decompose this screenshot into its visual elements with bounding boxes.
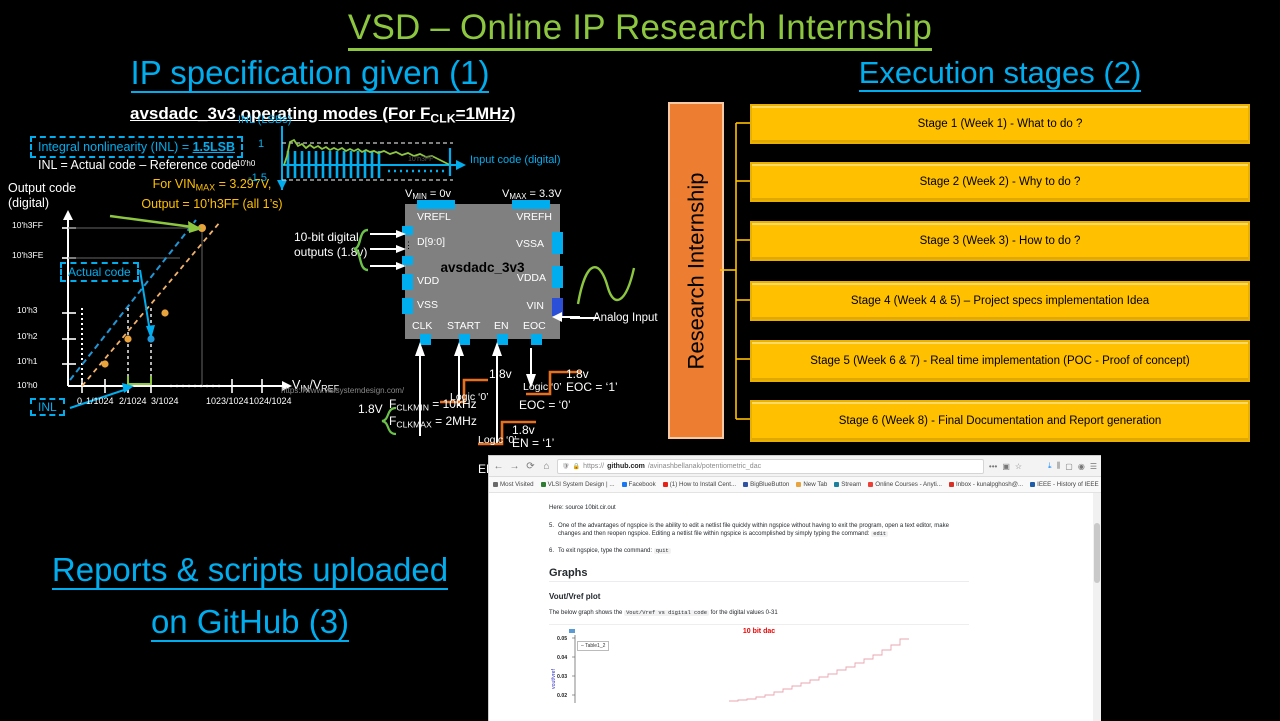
pin-vdd	[402, 274, 413, 290]
chart-svg	[549, 625, 969, 709]
heading-vout-vref-plot: Vout/Vref plot	[549, 592, 969, 601]
pin-vss	[402, 298, 413, 314]
section-heading-github: Reports & scripts uploadedon GitHub (3)	[0, 544, 500, 648]
actual-code-callout: Actual code	[60, 262, 139, 282]
inl-chart-svg	[238, 118, 468, 190]
inline-code: Vout/Vref vs digital code	[624, 610, 709, 616]
inl-chart-x-label: Input code (digital)	[470, 154, 561, 166]
bookmark-favicon-icon	[868, 482, 873, 487]
url-path: /avinashbellanak/potentiometric_dac	[648, 463, 761, 470]
xtick-3-1024: 3/1024	[151, 396, 179, 406]
spine-label: Research Internship	[683, 172, 709, 369]
eoc-18v-label: 1.8vEOC = ‘1’	[566, 368, 618, 394]
reload-icon[interactable]: ⟳	[525, 461, 536, 472]
home-icon[interactable]: ⌂	[541, 461, 552, 472]
url-host: github.com	[607, 463, 645, 470]
section-heading-execution: Execution stages (2)	[740, 52, 1260, 94]
ytick-h3: 10'h3	[17, 305, 38, 315]
heading-graphs: Graphs	[549, 567, 969, 582]
library-icon[interactable]: ▢	[1065, 462, 1073, 471]
bookmark-favicon-icon	[493, 482, 498, 487]
page-content: Here: source 10bit.cir.out 5. One of the…	[489, 493, 1101, 721]
pin-label-vin: VIN	[526, 300, 544, 312]
address-bar[interactable]: 🛡 🔒 https://github.com/avinashbellanak/p…	[557, 459, 984, 474]
bookmarks-bar: Most Visited VLSI System Design | ... Fa…	[489, 477, 1101, 493]
pin-vdda	[552, 266, 563, 288]
bookmark-favicon-icon	[622, 482, 627, 487]
bookmark-item[interactable]: Facebook	[622, 481, 656, 488]
hamburger-icon[interactable]: ☰	[1090, 462, 1097, 471]
stage-item-5[interactable]: Stage 5 (Week 6 & 7) - Real time impleme…	[750, 340, 1250, 382]
list-item-number: 5.	[549, 522, 554, 539]
bookmark-favicon-icon	[949, 482, 954, 487]
output-code-axis-label: Output code(digital)	[8, 181, 76, 211]
pin-label-vdda: VDDA	[517, 272, 546, 284]
menu-dots-icon[interactable]: •••	[989, 462, 997, 471]
page-title: VSD – Online IP Research Internship	[0, 6, 1280, 50]
pin-vssa	[552, 232, 563, 254]
lock-icon: 🔒	[573, 463, 580, 470]
pin-label-en: EN	[494, 320, 509, 332]
ytick-3ff: 10'h3FF	[12, 220, 43, 230]
bookmark-item[interactable]: Online Courses - Anyti...	[868, 481, 942, 488]
eoc-0-label: EOC = ‘0’	[519, 399, 571, 412]
download-icon[interactable]: ⤓	[1048, 461, 1052, 471]
en-logic0-label: Logic ‘0’	[478, 434, 517, 447]
bookmark-favicon-icon	[743, 482, 748, 487]
clk-voltage-label: 1.8V	[358, 401, 383, 417]
list-item: One of the advantages of ngspice is the …	[558, 522, 969, 539]
stage-item-4[interactable]: Stage 4 (Week 4 & 5) – Project specs imp…	[750, 281, 1250, 321]
source-line: Here: source 10bit.cir.out	[549, 504, 969, 513]
transfer-curve-plot	[10, 208, 310, 418]
vin-arrow-icon	[552, 308, 582, 326]
xtick-1-1024: 1/1024	[86, 396, 114, 406]
toolbar-icon-group: ••• ▣ ☆ ⤓ ⫼ ▢ ◉ ☰	[989, 461, 1097, 471]
start-18v-label: 1.8v	[489, 368, 512, 381]
bookmark-favicon-icon	[541, 482, 546, 487]
reader-icon[interactable]: ▣	[1002, 462, 1010, 471]
en-18v-label: 1.8vEN = ‘1’	[512, 424, 554, 450]
xtick-1024-1024: 1024/1024	[249, 396, 292, 406]
inline-code: edit	[871, 531, 888, 537]
pin-label-vssa: VSSA	[516, 238, 544, 250]
bookmark-favicon-icon	[834, 482, 839, 487]
avsdadc-chip-block: avsdadc_3v3 VREFL VREFH ⋮ D[9:0] VDD VSS…	[405, 204, 560, 339]
digital-outputs-brace-icon	[352, 226, 412, 276]
bookmark-favicon-icon	[1030, 482, 1035, 487]
page-title-text: VSD – Online IP Research Internship	[348, 8, 932, 51]
analog-input-label: Analog Input	[593, 312, 658, 324]
inl-equation: INL = Actual code – Reference code	[38, 158, 238, 172]
pin-label-vdd: VDD	[417, 275, 439, 287]
bookmark-item[interactable]: New Tab	[796, 481, 827, 488]
bookmark-item[interactable]: Stream	[834, 481, 861, 488]
fclkmax-label: FCLKMAX = 2MHz	[389, 413, 477, 432]
bookmark-item[interactable]: (1) How to Install Cent...	[663, 481, 736, 488]
pin-vrefh	[512, 200, 550, 209]
list-item-number: 6.	[549, 547, 554, 556]
github-browser-screenshot: ← → ⟳ ⌂ 🛡 🔒 https://github.com/avinashbe…	[488, 455, 1101, 721]
inl-callout: Integral nonlinearity (INL) = 1.5LSB	[30, 136, 243, 158]
xtick-0: 0	[77, 396, 82, 406]
bookmark-item[interactable]: BigBlueButton	[743, 481, 789, 488]
stage-item-3[interactable]: Stage 3 (Week 3) - How to do ?	[750, 221, 1250, 261]
slide-root: VSD – Online IP Research Internship IP s…	[0, 0, 1280, 720]
xtick-1023-1024: 1023/1024	[206, 396, 249, 406]
bookmark-item[interactable]: Most Visited	[493, 481, 534, 488]
pin-label-eoc: EOC	[523, 320, 546, 332]
star-icon[interactable]: ☆	[1015, 462, 1022, 471]
back-icon[interactable]: ←	[493, 461, 504, 472]
pin-label-clk: CLK	[412, 320, 432, 332]
bookmark-favicon-icon	[663, 482, 668, 487]
ytick-h0: 10'h0	[17, 380, 38, 390]
inl-chart-xtick-end: 10'h3FF	[408, 156, 433, 163]
ytick-h1: 10'h1	[17, 356, 38, 366]
pin-label-vss: VSS	[417, 299, 438, 311]
execution-stage-list: Stage 1 (Week 1) - What to do ? Stage 2 …	[750, 102, 1250, 442]
pin-label-vrefh: VREFH	[516, 211, 552, 223]
browser-toolbar: ← → ⟳ ⌂ 🛡 🔒 https://github.com/avinashbe…	[489, 456, 1101, 477]
stage-item-1[interactable]: Stage 1 (Week 1) - What to do ?	[750, 104, 1250, 144]
graph-description: The below graph shows the Vout/Vref vs d…	[549, 609, 969, 618]
shield-icon: 🛡	[562, 463, 570, 470]
bookmark-item[interactable]: VLSI System Design | ...	[541, 481, 615, 488]
pin-label-start: START	[447, 320, 480, 332]
chart-selection-handle[interactable]	[569, 629, 575, 633]
eoc-logic0-label: Logic ‘0’	[523, 381, 562, 394]
page-inner: Here: source 10bit.cir.out 5. One of the…	[549, 493, 969, 709]
ytick-3fe: 10'h3FE	[12, 250, 43, 260]
bookmark-favicon-icon	[796, 482, 801, 487]
scrollbar-thumb[interactable]	[1094, 523, 1100, 583]
inl-tag-callout: INL	[30, 398, 65, 416]
ytick-h2: 10'h2	[17, 331, 38, 341]
forward-icon[interactable]: →	[509, 461, 520, 472]
bookmark-item[interactable]: IEEE - History of IEEE	[1030, 481, 1099, 488]
bookmark-item[interactable]: Inbox - kunalpghosh@...	[949, 481, 1023, 488]
pocket-icon[interactable]: ⫼	[1057, 461, 1061, 471]
adc-specification-figure: avsdadc_3v3 operating modes (For FCLK=1M…	[0, 96, 660, 456]
vout-vref-chart: 10 bit dac – Table1_2 vout/vref 0.05 0.0…	[549, 624, 969, 709]
list-item: To exit ngspice, type the command: quit	[558, 547, 671, 556]
xtick-2-1024: 2/1024	[119, 396, 147, 406]
pin-label-d90: D[9:0]	[417, 236, 445, 248]
pin-vrefl	[417, 200, 455, 209]
research-internship-spine: Research Internship	[668, 102, 724, 439]
account-icon[interactable]: ◉	[1078, 462, 1085, 471]
inl-mini-chart: INL (LSBs) 1 10'h0 -1.5	[238, 118, 468, 190]
page-scrollbar[interactable]	[1093, 493, 1101, 721]
inline-code: quit	[654, 548, 671, 554]
pin-label-vrefl: VREFL	[417, 211, 451, 223]
url-prefix: https://	[583, 463, 604, 470]
section-heading-ip-spec: IP specification given (1)	[30, 52, 590, 94]
stage-item-2[interactable]: Stage 2 (Week 2) - Why to do ?	[750, 162, 1250, 202]
stage-item-6[interactable]: Stage 6 (Week 8) - Final Documentation a…	[750, 400, 1250, 442]
